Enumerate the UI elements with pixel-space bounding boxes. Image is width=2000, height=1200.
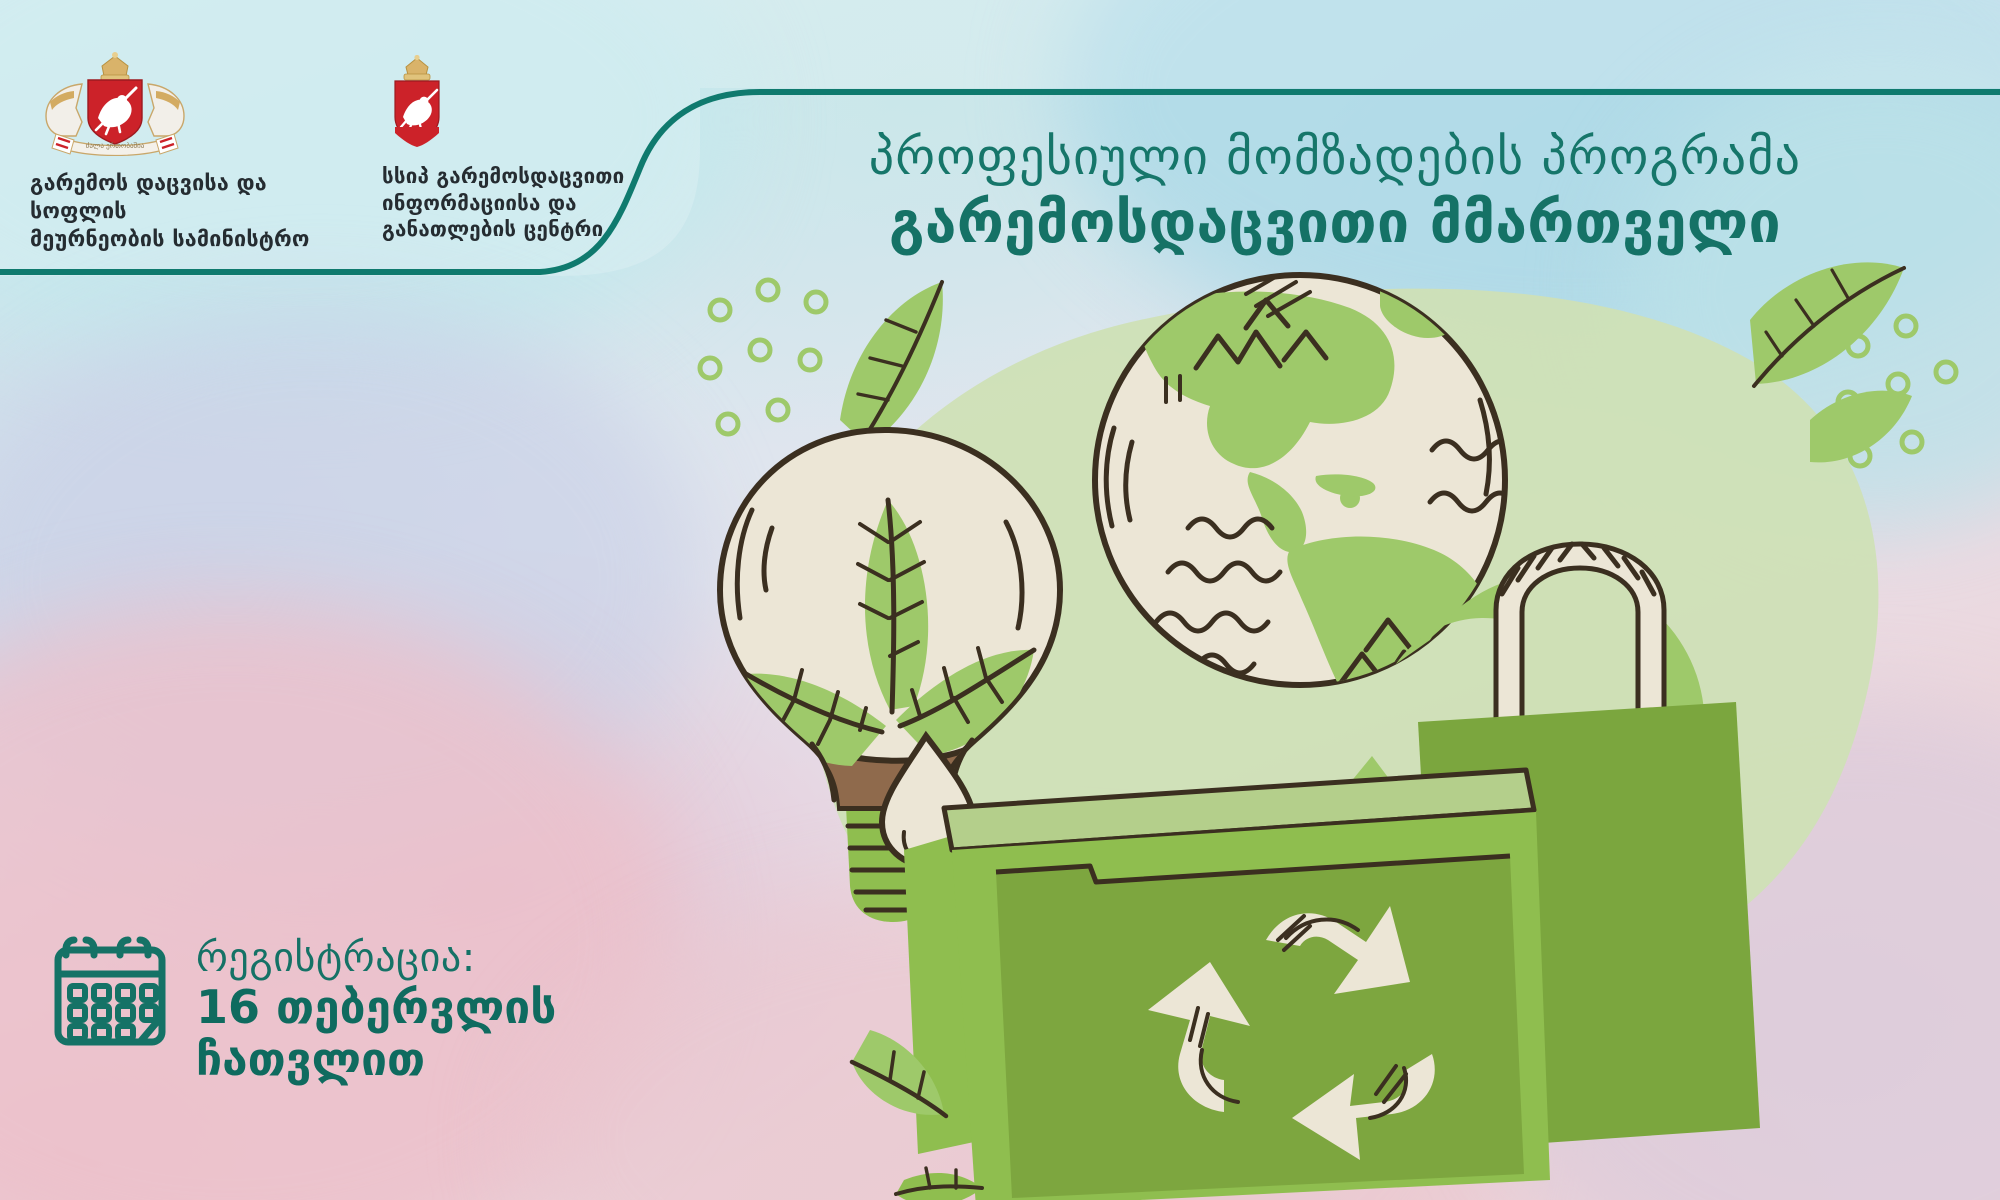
bg-blob-lavender: [0, 300, 700, 860]
registration-text: რეგისტრაცია: 16 თებერვლის ჩათვლით: [196, 930, 556, 1086]
program-title: გარემოსდაცვითი მმართველი: [690, 191, 1980, 257]
recycling-bin: [852, 770, 1550, 1200]
registration-block: რეგისტრაცია: 16 თებერვლის ჩათვლით: [52, 930, 672, 1086]
dot-cluster-left: [700, 280, 826, 434]
logo-ministry-caption: გარემოს დაცვისა და სოფლის მეურნეობის სამ…: [30, 170, 370, 254]
logo-center-caption: სსიპ გარემოსდაცვითი ინფორმაციისა და განა…: [382, 163, 652, 243]
georgia-shield-emblem-icon: [382, 55, 652, 155]
registration-date-line2: ჩათვლით: [196, 1033, 556, 1085]
eco-illustration: [690, 250, 2000, 1200]
calendar-icon: [52, 930, 170, 1052]
svg-text:ძალა ერთობაშია: ძალა ერთობაშია: [86, 141, 145, 150]
poster-canvas: ძალა ერთობაშია გარემოს დაცვისა და სოფლის…: [0, 0, 2000, 1200]
registration-date-line1: 16 თებერვლის: [196, 981, 556, 1033]
logo-center: სსიპ გარემოსდაცვითი ინფორმაციისა და განა…: [382, 55, 652, 243]
program-subtitle: პროფესიული მომზადების პროგრამა: [690, 130, 1980, 185]
georgia-coat-of-arms-icon: ძალა ერთობაშია: [30, 52, 370, 160]
title-block: პროფესიული მომზადების პროგრამა გარემოსდა…: [690, 130, 1980, 257]
logo-ministry: ძალა ერთობაშია გარემოს დაცვისა და სოფლის…: [30, 52, 370, 254]
bg-blob-pink-left: [0, 600, 680, 1200]
registration-label: რეგისტრაცია:: [196, 936, 556, 981]
